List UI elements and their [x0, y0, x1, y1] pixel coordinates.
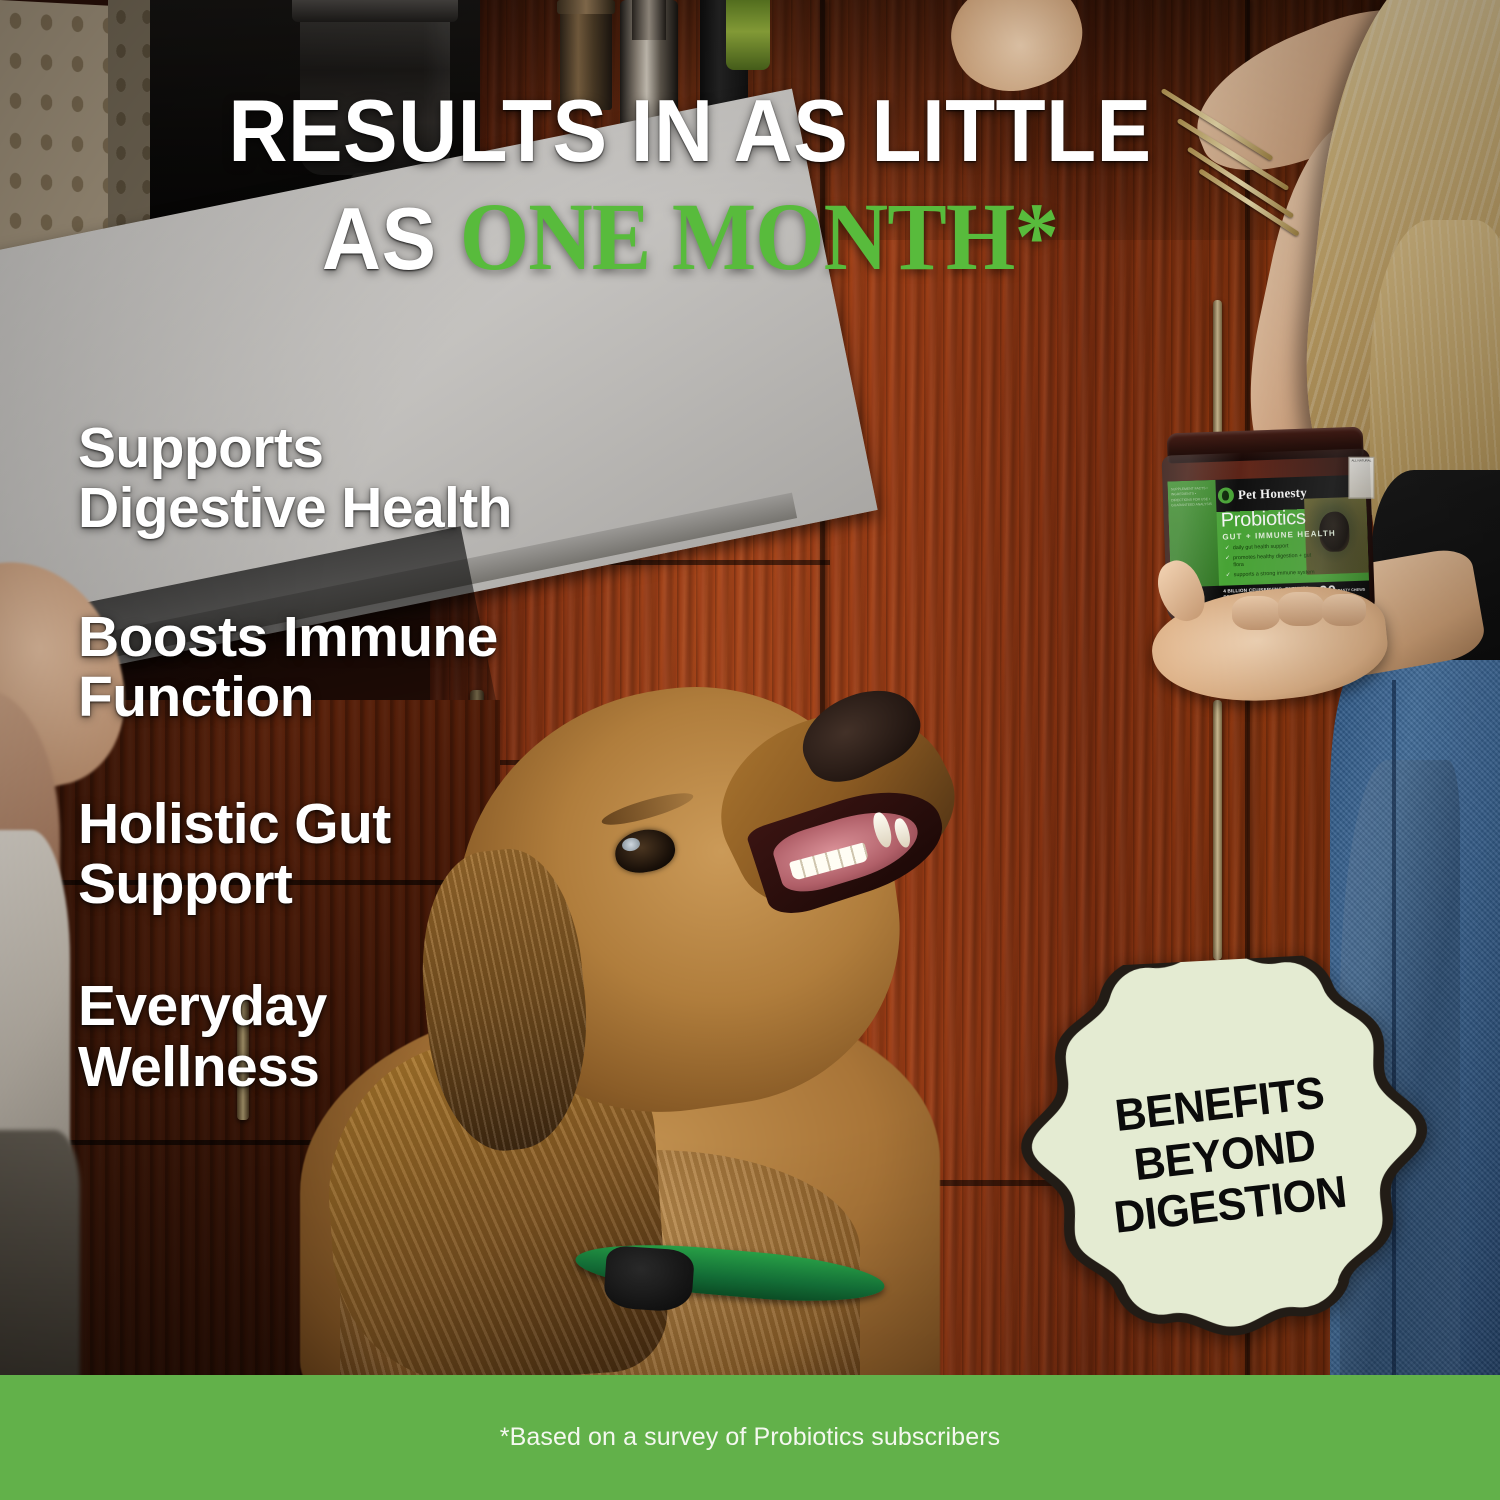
label-bullet: daily gut health support: [1225, 542, 1317, 552]
headline-prefix: AS: [322, 189, 460, 288]
brand-name: Pet Honesty: [1238, 485, 1308, 503]
bystander-lower-body: [0, 1130, 80, 1400]
benefit-item-digestive-health: Supports Digestive Health: [78, 418, 512, 539]
carafe-lid: [292, 0, 458, 22]
headline-line-2: AS ONE MONTH*: [48, 190, 1331, 284]
headline-highlight: ONE MONTH*: [460, 183, 1058, 290]
kettle-neck: [632, 0, 666, 40]
benefit-list: Supports Digestive Health Boosts Immune …: [78, 418, 512, 1097]
all-natural-seal-icon: ALL NATURAL: [1348, 457, 1374, 499]
benefit-item-immune-function: Boosts Immune Function: [78, 607, 512, 728]
promo-image: SUPPLEMENT FACTS • INGREDIENTS • DIRECTI…: [0, 0, 1500, 1500]
footer-bar: *Based on a survey of Probiotics subscri…: [0, 1375, 1500, 1500]
benefit-item-gut-support: Holistic Gut Support: [78, 794, 512, 915]
person-finger: [1322, 594, 1366, 626]
green-utensils: [726, 0, 770, 70]
benefits-beyond-digestion-badge: BENEFITS BEYOND DIGESTION: [1000, 949, 1450, 1361]
footnote-text: *Based on a survey of Probiotics subscri…: [500, 1423, 1000, 1452]
badge-text-block: BENEFITS BEYOND DIGESTION: [989, 937, 1460, 1373]
label-bullet-list: daily gut health support promotes health…: [1225, 542, 1318, 583]
headline-line-1: RESULTS IN AS LITTLE: [48, 88, 1331, 174]
pet-honesty-logo-icon: [1218, 487, 1235, 504]
cabinet-handle: [1213, 700, 1222, 960]
person-finger: [1278, 592, 1324, 626]
benefit-item-everyday-wellness: Everyday Wellness: [78, 976, 512, 1097]
label-bullet: supports a strong immune system: [1226, 570, 1318, 580]
dog-collar-tag: [603, 1245, 695, 1313]
headline: RESULTS IN AS LITTLE AS ONE MONTH*: [0, 88, 1380, 284]
person-finger: [1232, 596, 1280, 630]
label-bullet: promotes healthy digestion + gut flora: [1225, 553, 1317, 569]
product-title: Probiotics: [1220, 507, 1306, 533]
